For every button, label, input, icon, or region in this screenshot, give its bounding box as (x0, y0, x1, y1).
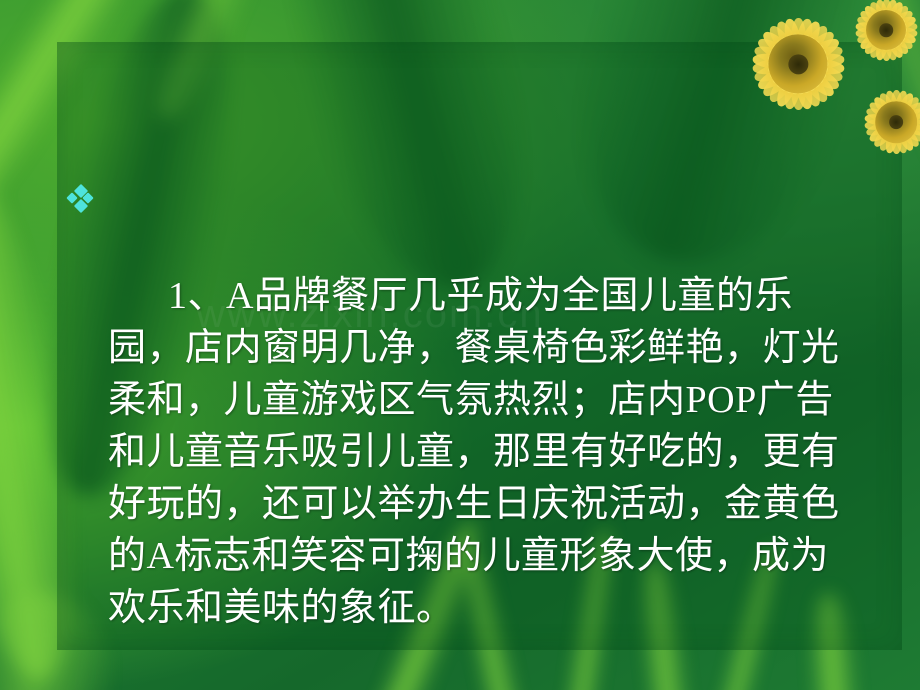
bullet-paragraph-1: 1、A品牌餐厅几乎成为全国儿童的乐园，店内窗明几净，餐桌椅色彩鲜艳，灯光柔和，儿… (62, 166, 862, 686)
slide-body: 1、A品牌餐厅几乎成为全国儿童的乐园，店内窗明几净，餐桌椅色彩鲜艳，灯光柔和，儿… (62, 62, 862, 690)
presentation-slide: www.zixin.com.cn 1、A品牌餐厅几乎成为全国儿童的乐园，店内窗明… (0, 0, 920, 690)
paragraph-1-text: 1、A品牌餐厅几乎成为全国儿童的乐园，店内窗明几净，餐桌椅色彩鲜艳，灯光柔和，儿… (108, 275, 840, 629)
diamond-cluster-bullet-icon (68, 186, 94, 212)
